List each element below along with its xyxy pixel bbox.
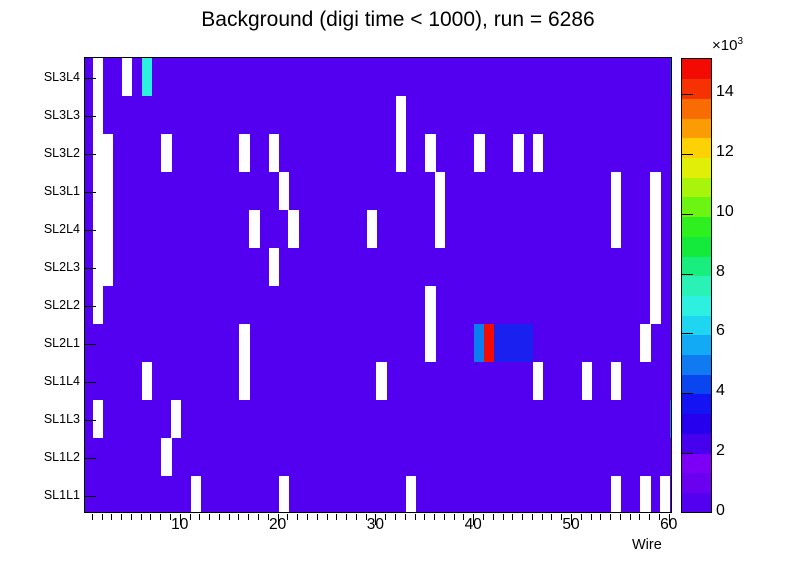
colorbar-tick-label: 10 <box>716 203 734 221</box>
x-axis-minor-tick <box>219 514 220 520</box>
x-axis-minor-tick <box>307 514 308 520</box>
x-axis-minor-tick <box>591 514 592 520</box>
heatmap-cell[interactable] <box>650 248 660 286</box>
y-axis-tick <box>84 344 96 345</box>
x-axis-minor-tick <box>424 514 425 520</box>
y-axis-label: SL2L1 <box>0 336 80 350</box>
x-axis-minor-tick <box>639 514 640 520</box>
heatmap-cell[interactable] <box>523 324 533 362</box>
y-axis-label: SL1L1 <box>0 488 80 502</box>
heatmap-cell[interactable] <box>239 362 249 400</box>
heatmap-cell[interactable] <box>611 172 621 210</box>
x-axis-minor-tick <box>630 514 631 520</box>
x-axis-minor-tick <box>532 514 533 520</box>
colorbar-band <box>682 59 711 79</box>
x-axis-minor-tick <box>141 514 142 520</box>
colorbar-tick <box>681 94 693 95</box>
y-axis-tick <box>84 154 96 155</box>
x-axis-minor-tick <box>111 514 112 520</box>
y-axis-label: SL1L4 <box>0 374 80 388</box>
colorbar-band <box>682 157 711 177</box>
colorbar-band <box>682 295 711 315</box>
heatmap-cell[interactable] <box>171 400 181 438</box>
heatmap-cell[interactable] <box>279 172 289 210</box>
colorbar-band <box>682 276 711 296</box>
heatmap-cell[interactable] <box>650 286 660 324</box>
x-axis-minor-tick <box>434 514 435 520</box>
colorbar-band <box>682 374 711 394</box>
x-axis-minor-tick <box>150 514 151 520</box>
y-axis-tick <box>84 458 96 459</box>
y-axis-tick <box>84 268 96 269</box>
page-title: Background (digi time < 1000), run = 628… <box>0 8 796 32</box>
colorbar-tick <box>681 214 693 215</box>
y-axis-tick <box>84 382 96 383</box>
y-axis-label: SL3L2 <box>0 146 80 160</box>
x-axis-tick-label: 60 <box>649 516 689 534</box>
x-axis-minor-tick <box>415 514 416 520</box>
heatmap-cell[interactable] <box>122 58 132 96</box>
colorbar-tick-label: 14 <box>716 83 734 101</box>
y-axis-tick <box>84 192 96 193</box>
heatmap-cell[interactable] <box>396 96 406 134</box>
heatmap-cell[interactable] <box>670 58 672 96</box>
heatmap-cell[interactable] <box>611 476 621 513</box>
x-axis-minor-tick <box>512 514 513 520</box>
x-axis-minor-tick <box>238 514 239 520</box>
x-axis-minor-tick <box>131 514 132 520</box>
heatmap-cell[interactable] <box>533 134 543 172</box>
heatmap-cells <box>85 58 671 512</box>
heatmap-cell[interactable] <box>249 210 259 248</box>
heatmap-cell[interactable] <box>103 134 113 172</box>
x-axis-minor-tick <box>503 514 504 520</box>
heatmap-cell[interactable] <box>425 286 435 324</box>
y-axis-label: SL2L4 <box>0 222 80 236</box>
y-axis-tick <box>84 496 96 497</box>
colorbar-tick-label: 12 <box>716 143 734 161</box>
y-axis-label: SL2L2 <box>0 298 80 312</box>
colorbar-band <box>682 98 711 118</box>
colorbar-band <box>682 453 711 473</box>
heatmap-cell[interactable] <box>288 210 298 248</box>
heatmap-cell[interactable] <box>582 362 592 400</box>
heatmap-cell[interactable] <box>161 438 171 476</box>
heatmap-cell[interactable] <box>435 210 445 248</box>
color-scale-bar <box>681 58 712 513</box>
y-axis-label: SL3L1 <box>0 184 80 198</box>
colorbar-band <box>682 354 711 374</box>
colorbar-tick <box>681 154 693 155</box>
x-axis-minor-tick <box>209 514 210 520</box>
heatmap-cell[interactable] <box>103 172 113 210</box>
heatmap-cell[interactable] <box>103 248 113 286</box>
y-axis-label: SL3L4 <box>0 70 80 84</box>
heatmap-cell[interactable] <box>239 324 249 362</box>
colorbar-tick-label: 0 <box>716 502 725 520</box>
x-axis-minor-tick <box>610 514 611 520</box>
colorbar-band <box>682 414 711 434</box>
y-axis-tick <box>84 116 96 117</box>
colorbar-exponent: ×103 <box>712 36 743 54</box>
heatmap-cell[interactable] <box>279 476 289 513</box>
colorbar-band <box>682 138 711 158</box>
y-axis-label: SL1L3 <box>0 412 80 426</box>
heatmap-cell[interactable] <box>640 476 650 513</box>
heatmap-cell[interactable] <box>640 324 650 362</box>
heatmap-cell[interactable] <box>396 134 406 172</box>
heatmap-cell[interactable] <box>650 172 660 210</box>
heatmap-cell[interactable] <box>611 210 621 248</box>
heatmap-cell[interactable] <box>367 210 377 248</box>
colorbar-exponent-power: 3 <box>737 36 743 47</box>
heatmap-cell[interactable] <box>611 362 621 400</box>
heatmap-cell[interactable] <box>376 362 386 400</box>
heatmap-cell[interactable] <box>650 210 660 248</box>
heatmap-cell[interactable] <box>161 134 171 172</box>
heatmap-cell[interactable] <box>191 476 201 513</box>
heatmap-cell[interactable] <box>269 134 279 172</box>
heatmap-background-fill <box>85 58 671 512</box>
colorbar-tick <box>681 393 693 394</box>
colorbar-band <box>682 217 711 237</box>
x-axis-minor-tick <box>620 514 621 520</box>
colorbar-band <box>682 118 711 138</box>
heatmap-cell[interactable] <box>435 172 445 210</box>
colorbar-band <box>682 177 711 197</box>
heatmap-cell[interactable] <box>142 58 152 96</box>
colorbar-band <box>682 492 711 512</box>
heatmap-cell[interactable] <box>239 134 249 172</box>
heatmap-cell[interactable] <box>474 134 484 172</box>
colorbar-tick-label: 4 <box>716 382 725 400</box>
y-axis-tick <box>84 306 96 307</box>
x-axis-minor-tick <box>327 514 328 520</box>
x-axis-title: Wire <box>632 537 662 553</box>
heatmap-cell[interactable] <box>406 476 416 513</box>
x-axis-minor-tick <box>542 514 543 520</box>
colorbar-tick-label: 8 <box>716 263 725 281</box>
x-axis-minor-tick <box>444 514 445 520</box>
y-axis-tick <box>84 420 96 421</box>
heatmap-cell[interactable] <box>670 400 672 438</box>
heatmap-plot-area[interactable] <box>84 57 672 513</box>
y-axis-label: SL2L3 <box>0 260 80 274</box>
colorbar-band <box>682 79 711 99</box>
x-axis-minor-tick <box>121 514 122 520</box>
colorbar-band <box>682 433 711 453</box>
x-axis-minor-tick <box>229 514 230 520</box>
heatmap-cell[interactable] <box>660 476 670 513</box>
colorbar-tick-label: 6 <box>716 322 725 340</box>
colorbar-band <box>682 335 711 355</box>
x-axis-tick-label: 40 <box>453 516 493 534</box>
x-axis-minor-tick <box>248 514 249 520</box>
y-axis-label: SL1L2 <box>0 450 80 464</box>
x-axis-minor-tick <box>317 514 318 520</box>
heatmap-cell[interactable] <box>142 362 152 400</box>
plot-canvas: Background (digi time < 1000), run = 628… <box>0 0 796 572</box>
heatmap-cell[interactable] <box>425 324 435 362</box>
x-axis-tick-label: 50 <box>551 516 591 534</box>
colorbar-band <box>682 473 711 493</box>
y-axis-tick <box>84 78 96 79</box>
colorbar-tick <box>681 333 693 334</box>
colorbar-tick <box>681 274 693 275</box>
y-axis-label: SL3L3 <box>0 108 80 122</box>
colorbar-band <box>682 394 711 414</box>
x-axis-tick-label: 20 <box>258 516 298 534</box>
colorbar-tick-label: 2 <box>716 442 725 460</box>
x-axis-minor-tick <box>346 514 347 520</box>
x-axis-minor-tick <box>405 514 406 520</box>
heatmap-cell[interactable] <box>533 362 543 400</box>
x-axis-minor-tick <box>336 514 337 520</box>
x-axis-minor-tick <box>92 514 93 520</box>
x-axis-minor-tick <box>522 514 523 520</box>
x-axis-minor-tick <box>600 514 601 520</box>
heatmap-cell[interactable] <box>513 134 523 172</box>
heatmap-cell[interactable] <box>103 210 113 248</box>
colorbar-exponent-base: ×10 <box>712 37 737 54</box>
colorbar-band <box>682 236 711 256</box>
heatmap-cell[interactable] <box>269 248 279 286</box>
colorbar-tick <box>681 453 693 454</box>
x-axis-tick-label: 10 <box>160 516 200 534</box>
x-axis-tick-label: 30 <box>355 516 395 534</box>
y-axis-tick <box>84 230 96 231</box>
heatmap-cell[interactable] <box>425 134 435 172</box>
x-axis-minor-tick <box>102 514 103 520</box>
